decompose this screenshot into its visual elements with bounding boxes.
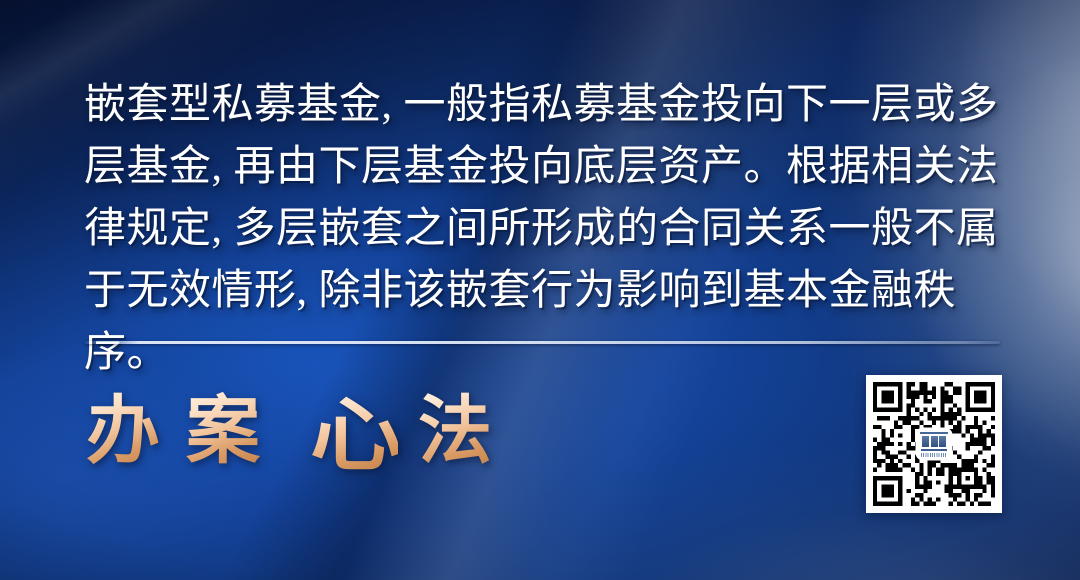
brand-char-2: 案	[186, 392, 260, 470]
brand-char-1: 办	[86, 392, 160, 470]
horizontal-divider	[85, 341, 1000, 344]
brand-char-4: 法	[418, 392, 492, 470]
courthouse-building-icon	[917, 429, 951, 459]
poster-card: 嵌套型私募基金, 一般指私募基金投向下一层或多层基金, 再由下层基金投向底层资产…	[0, 0, 1080, 580]
brand-char-3: 心	[310, 396, 398, 474]
brand-wordmark: 办 案 心 法	[86, 392, 492, 470]
qr-code[interactable]	[866, 375, 1002, 513]
body-paragraph: 嵌套型私募基金, 一般指私募基金投向下一层或多层基金, 再由下层基金投向底层资产…	[84, 74, 1002, 384]
